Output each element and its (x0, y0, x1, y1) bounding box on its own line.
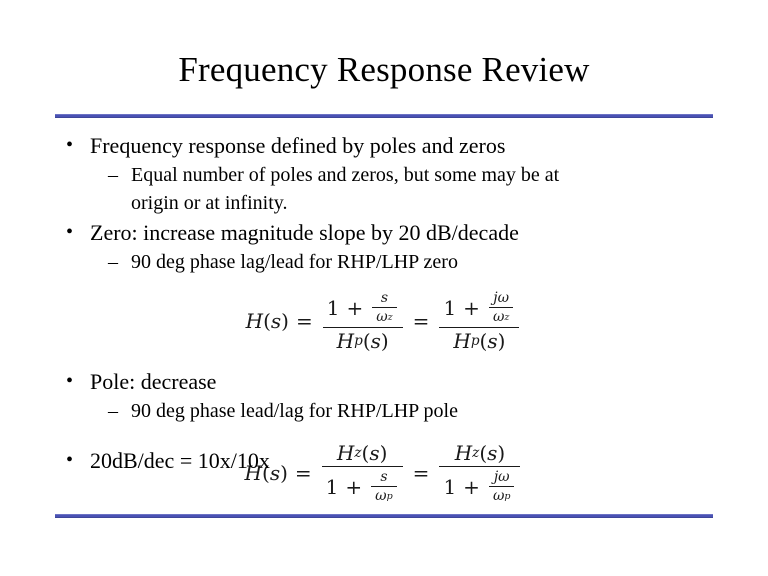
bullet-item-frequency-response: • Frequency response defined by poles an… (0, 130, 768, 161)
eq-zero-right-inner-fraction: jω ωz (489, 289, 513, 326)
eq-zero-left-den-sub: p (354, 333, 363, 349)
dash-marker-icon: – (108, 161, 118, 189)
eq-pole-left-inner-den: ω (375, 488, 386, 504)
eq-zero-right-inner-den: ω (493, 309, 504, 325)
bullet-marker-icon: • (66, 445, 73, 476)
eq-pole-right-inner-den-sub: p (504, 491, 510, 502)
eq-pole-left-den-plus: + (345, 475, 362, 499)
eq-zero-right-num-plus: + (463, 296, 480, 320)
eq-zero-lhs-arg: s (271, 309, 281, 333)
sub-bullet-item-equal-number: – Equal number of poles and zeros, but s… (0, 161, 768, 217)
eq-zero-right-den-arg: s (487, 329, 497, 353)
bullet-item-20db-per-dec: • 20dB/dec = 10x/10x (0, 445, 768, 476)
bullet-marker-icon: • (66, 130, 73, 161)
equation-zero-expression: H(s) = 1+ s ωz Hp(s) = 1+ (246, 288, 523, 354)
equation-zero-transfer-function: H(s) = 1+ s ωz Hp(s) = 1+ (0, 288, 768, 354)
sub-bullet-text: 90 deg phase lead/lag for RHP/LHP pole (131, 397, 768, 425)
eq-pole-left-inner-den-sub: p (387, 491, 393, 502)
dash-marker-icon: – (108, 397, 118, 425)
eq-zero-left-inner-fraction: s ωz (372, 289, 396, 326)
dash-marker-icon: – (108, 248, 118, 276)
bullet-text: Zero: increase magnitude slope by 20 dB/… (90, 220, 519, 245)
eq-zero-right-den-sub: p (471, 333, 480, 349)
sub-bullet-item-pole-phase: – 90 deg phase lead/lag for RHP/LHP pole (0, 397, 768, 425)
eq-zero-left-num-one: 1 (327, 296, 340, 320)
eq-pole-right-den-one: 1 (443, 475, 456, 499)
bullet-text: 20dB/dec = 10x/10x (90, 448, 270, 473)
eq-zero-equals-2: = (413, 309, 430, 333)
eq-pole-left-den-one: 1 (326, 475, 339, 499)
footer-divider-rule (55, 514, 713, 518)
eq-zero-left-num-plus: + (346, 296, 363, 320)
eq-zero-left-inner-den-sub: z (388, 312, 393, 323)
eq-zero-right-fraction: 1+ jω ωz Hp(s) (439, 288, 519, 354)
sub-bullet-text-line2: origin or at infinity. (131, 189, 768, 217)
bullet-marker-icon: • (66, 366, 73, 397)
bullet-item-pole: • Pole: decrease (0, 366, 768, 397)
page-title: Frequency Response Review (55, 48, 713, 92)
title-divider-rule (55, 114, 713, 118)
sub-bullet-text-line1: Equal number of poles and zeros, but som… (131, 161, 768, 189)
eq-zero-right-inner-den-sub: z (504, 312, 509, 323)
eq-pole-right-den-plus: + (463, 475, 480, 499)
eq-zero-equals-1: = (296, 309, 313, 333)
bullet-text: Pole: decrease (90, 369, 216, 394)
eq-zero-left-inner-den: ω (376, 309, 387, 325)
eq-zero-left-den-fn: H (337, 329, 354, 353)
slide-body: • Frequency response defined by poles an… (0, 130, 768, 510)
eq-zero-right-num-one: 1 (443, 296, 456, 320)
eq-zero-right-inner-num: jω (493, 290, 509, 306)
sub-bullet-item-zero-phase: – 90 deg phase lag/lead for RHP/LHP zero (0, 248, 768, 276)
bullet-text: Frequency response defined by poles and … (90, 133, 505, 158)
eq-pole-right-inner-den: ω (493, 488, 504, 504)
eq-zero-left-den-arg: s (371, 329, 381, 353)
sub-bullet-text: 90 deg phase lag/lead for RHP/LHP zero (131, 248, 768, 276)
eq-zero-right-den-fn: H (453, 329, 470, 353)
eq-zero-left-inner-num: s (381, 290, 388, 306)
eq-zero-left-fraction: 1+ s ωz Hp(s) (323, 288, 403, 354)
bullet-item-zero: • Zero: increase magnitude slope by 20 d… (0, 217, 768, 248)
eq-zero-lhs-fn: H (246, 309, 263, 333)
bullet-marker-icon: • (66, 217, 73, 248)
